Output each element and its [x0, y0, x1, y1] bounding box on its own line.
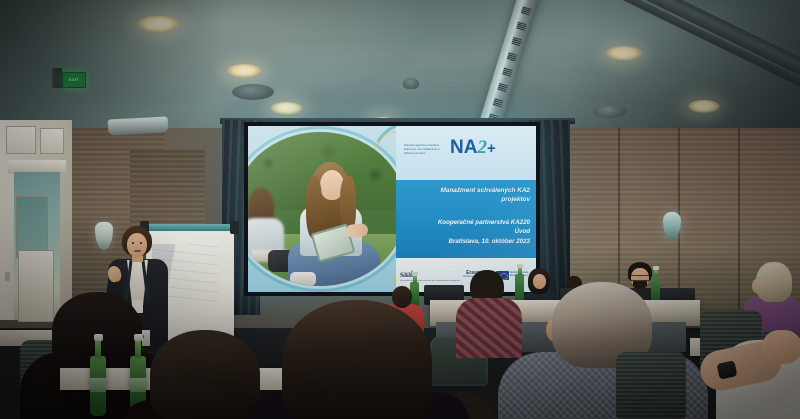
exit-sign: EXIT — [62, 72, 86, 88]
na-logo-e: 2 — [477, 137, 487, 158]
foreground-attendee-head — [150, 330, 260, 419]
presenter-mouth — [134, 250, 141, 252]
water-bottle — [90, 356, 106, 416]
slide-subtitle: Kooperačné partnerstvá KA220 Úvod Bratis… — [402, 218, 530, 246]
slide-title: Manažment schválených KA2 projektov — [402, 186, 530, 205]
exit-sign-label: EXIT — [69, 78, 79, 82]
chair — [616, 352, 686, 419]
slide-photo-panel — [248, 126, 398, 292]
slide-title-line-1: Manažment schválených KA2 — [402, 186, 530, 195]
attendee-red-jacket-hair — [392, 286, 412, 308]
slide-subtitle-line-3: Bratislava, 10. október 2023 — [402, 237, 530, 246]
door-handle[interactable] — [5, 272, 10, 281]
attendee-right-hair — [756, 262, 792, 302]
slide-text-panel: Národná agentúra programu Erasmus+ pre v… — [396, 126, 536, 292]
door[interactable] — [18, 250, 54, 322]
na-logo-plus: + — [487, 140, 496, 157]
alcove-panel — [40, 128, 64, 154]
presenter-face — [127, 233, 147, 257]
slide-title-line-2: projektov — [402, 195, 530, 204]
air-conditioner-unit — [108, 116, 169, 135]
attendee-patterned-top — [456, 298, 522, 358]
panelist-woman-face — [533, 274, 546, 289]
flipchart-clip-right — [230, 221, 239, 234]
alcove-panel — [6, 126, 36, 154]
alcove-inner-panel — [16, 196, 48, 258]
projection-screen: Národná agentúra programu Erasmus+ pre v… — [248, 126, 536, 292]
slide-subtitle-line-1: Kooperačné partnerstvá KA220 — [402, 218, 530, 227]
slide-subtitle-line-2: Úvod — [402, 227, 530, 236]
na-logo-na: NA — [450, 137, 477, 158]
photo-person-shoe — [290, 272, 316, 286]
na-plus-logo: NA2+ — [450, 138, 496, 157]
panelist-man-beard — [633, 281, 647, 289]
slide-agency-text: Národná agentúra programu Erasmus+ pre v… — [404, 144, 444, 156]
conference-room-photo: EXIT — [0, 0, 800, 419]
slide-logo-row: saaic Slovenská akademická asociácia pre… — [400, 264, 532, 286]
saaic-logo-subtext: Slovenská akademická asociácia pre medzi… — [400, 279, 460, 282]
foreground-attendee-long-hair — [282, 300, 432, 419]
foreground-attendee-hand — [762, 330, 800, 364]
saaic-logo: saaic Slovenská akademická asociácia pre… — [400, 269, 460, 282]
exit-sign-bracket — [52, 68, 62, 88]
photo-person-hair-strand — [306, 176, 322, 238]
